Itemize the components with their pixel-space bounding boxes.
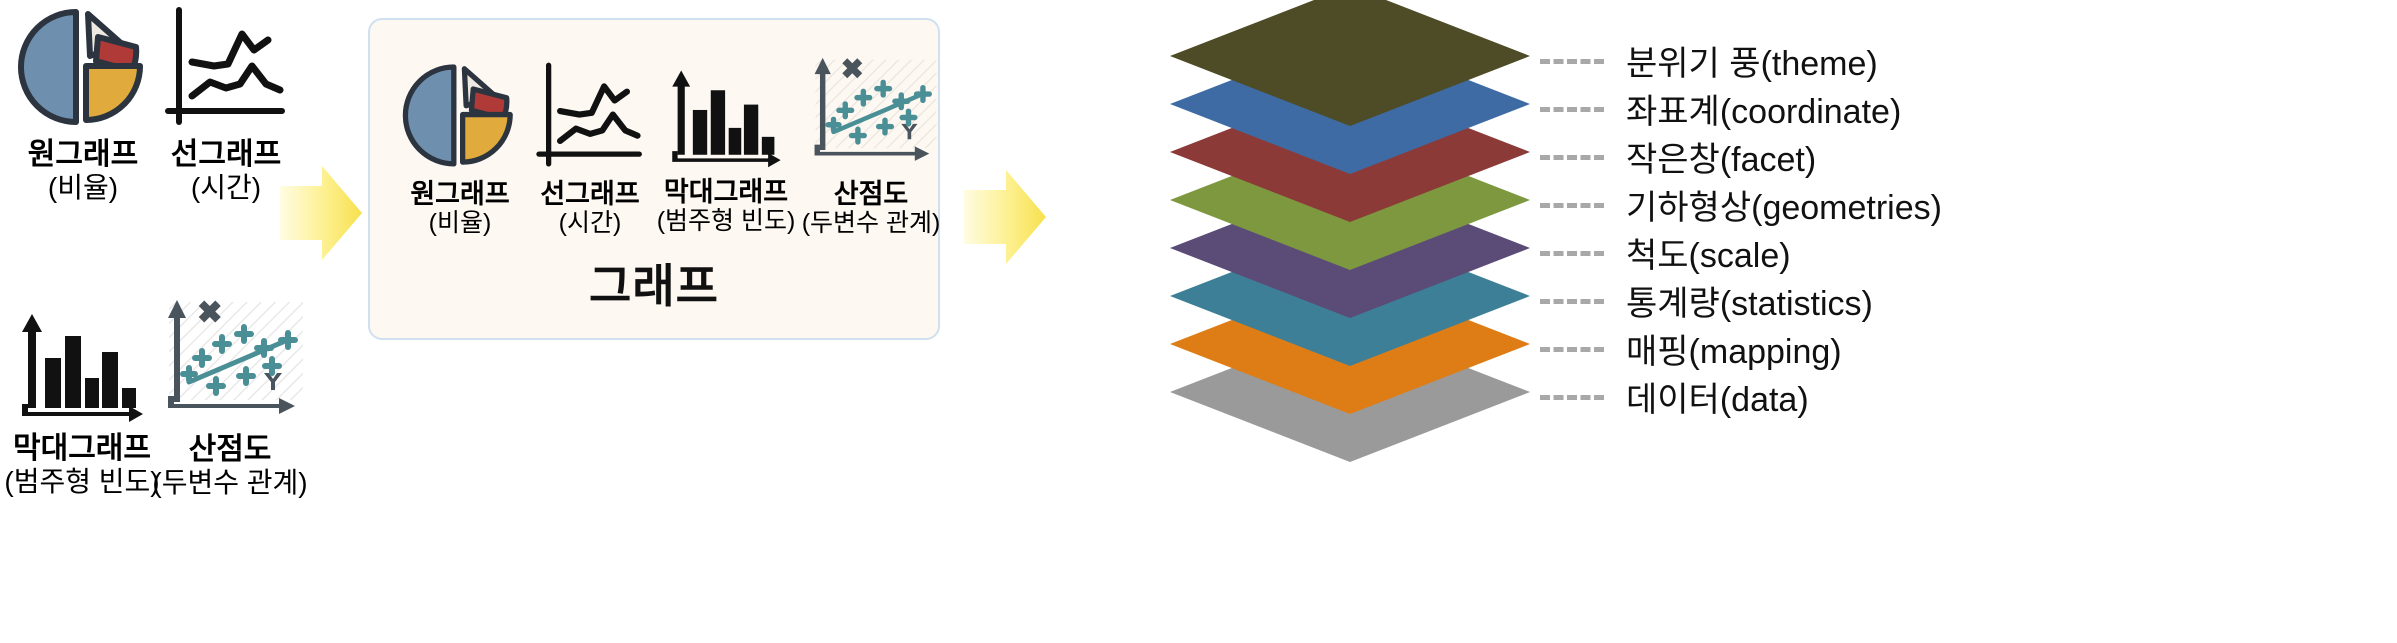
graph-item-note: (범주형 빈도)	[657, 207, 796, 235]
graph-panel-title: 그래프	[370, 250, 938, 316]
leader-line	[1540, 251, 1604, 256]
layer-label-geometries: 기하형상(geometries)	[1626, 180, 1942, 229]
right-arrow-icon-1	[276, 158, 366, 273]
line-chart-icon	[166, 4, 286, 134]
leader-line	[1540, 107, 1604, 112]
layer-label-scale: 척도(scale)	[1626, 228, 1791, 277]
pie-chart-icon	[18, 4, 148, 134]
chart-type-label: 선그래프	[171, 138, 281, 172]
chart-type-scatter: 산점도 (두변수 관계)	[140, 296, 320, 498]
chart-type-pie: 원그래프 (비율)	[8, 4, 158, 203]
graph-item-label: 원그래프	[410, 179, 509, 209]
layer-label-theme: 분위기 풍(theme)	[1626, 36, 1878, 85]
diagram-canvas: 원그래프 (비율) 선그래프 (시간)	[0, 0, 2397, 643]
chart-type-label: 산점도	[189, 433, 272, 467]
graph-item-scatter: 산점도 (두변수 관계)	[786, 54, 956, 237]
leader-line	[1540, 155, 1604, 160]
graph-item-label: 선그래프	[540, 179, 639, 209]
leader-line	[1540, 59, 1604, 64]
graph-item-bar: 막대그래프 (범주형 빈도)	[646, 58, 806, 235]
chart-type-note: (시간)	[191, 172, 261, 203]
line-chart-icon	[534, 60, 646, 175]
graph-item-line: 선그래프 (시간)	[520, 60, 660, 237]
leader-line	[1540, 395, 1604, 400]
graph-item-note: (비율)	[429, 209, 492, 237]
layer-label-coordinate: 좌표계(coordinate)	[1626, 84, 1901, 133]
graph-item-label: 막대그래프	[664, 177, 788, 207]
scatter-plot-icon	[801, 54, 941, 177]
graph-item-note: (두변수 관계)	[802, 209, 941, 237]
chart-type-label: 막대그래프	[13, 432, 151, 466]
graph-item-note: (시간)	[559, 209, 622, 237]
bar-chart-icon	[665, 58, 787, 175]
leader-line	[1540, 299, 1604, 304]
graph-group-panel: 원그래프 (비율) 선그래프 (시간)	[368, 18, 940, 340]
chart-type-note: (범주형 빈도)	[4, 466, 159, 497]
pie-chart-icon	[401, 60, 519, 175]
leader-line	[1540, 203, 1604, 208]
right-arrow-icon-2	[960, 162, 1050, 277]
layer-label-facet: 작은창(facet)	[1626, 132, 1816, 181]
chart-type-label: 원그래프	[28, 138, 138, 172]
layer-label-statistics: 통계량(statistics)	[1626, 276, 1873, 325]
layer-label-data: 데이터(data)	[1626, 372, 1809, 421]
leader-line	[1540, 347, 1604, 352]
scatter-plot-icon	[153, 296, 308, 431]
chart-type-bar: 막대그래프 (범주형 빈도)	[2, 300, 162, 497]
chart-type-note: (두변수 관계)	[152, 467, 307, 498]
graph-item-label: 산점도	[834, 179, 909, 209]
chart-types-cluster: 원그래프 (비율) 선그래프 (시간)	[0, 0, 350, 643]
bar-chart-icon	[17, 300, 147, 430]
graph-item-pie: 원그래프 (비율)	[390, 60, 530, 237]
layer-label-mapping: 매핑(mapping)	[1626, 324, 1842, 373]
grammar-of-graphics-layer-stack: 분위기 풍(theme) 좌표계(coordinate) 작은창(facet) …	[1040, 0, 2397, 643]
chart-type-note: (비율)	[48, 172, 118, 203]
